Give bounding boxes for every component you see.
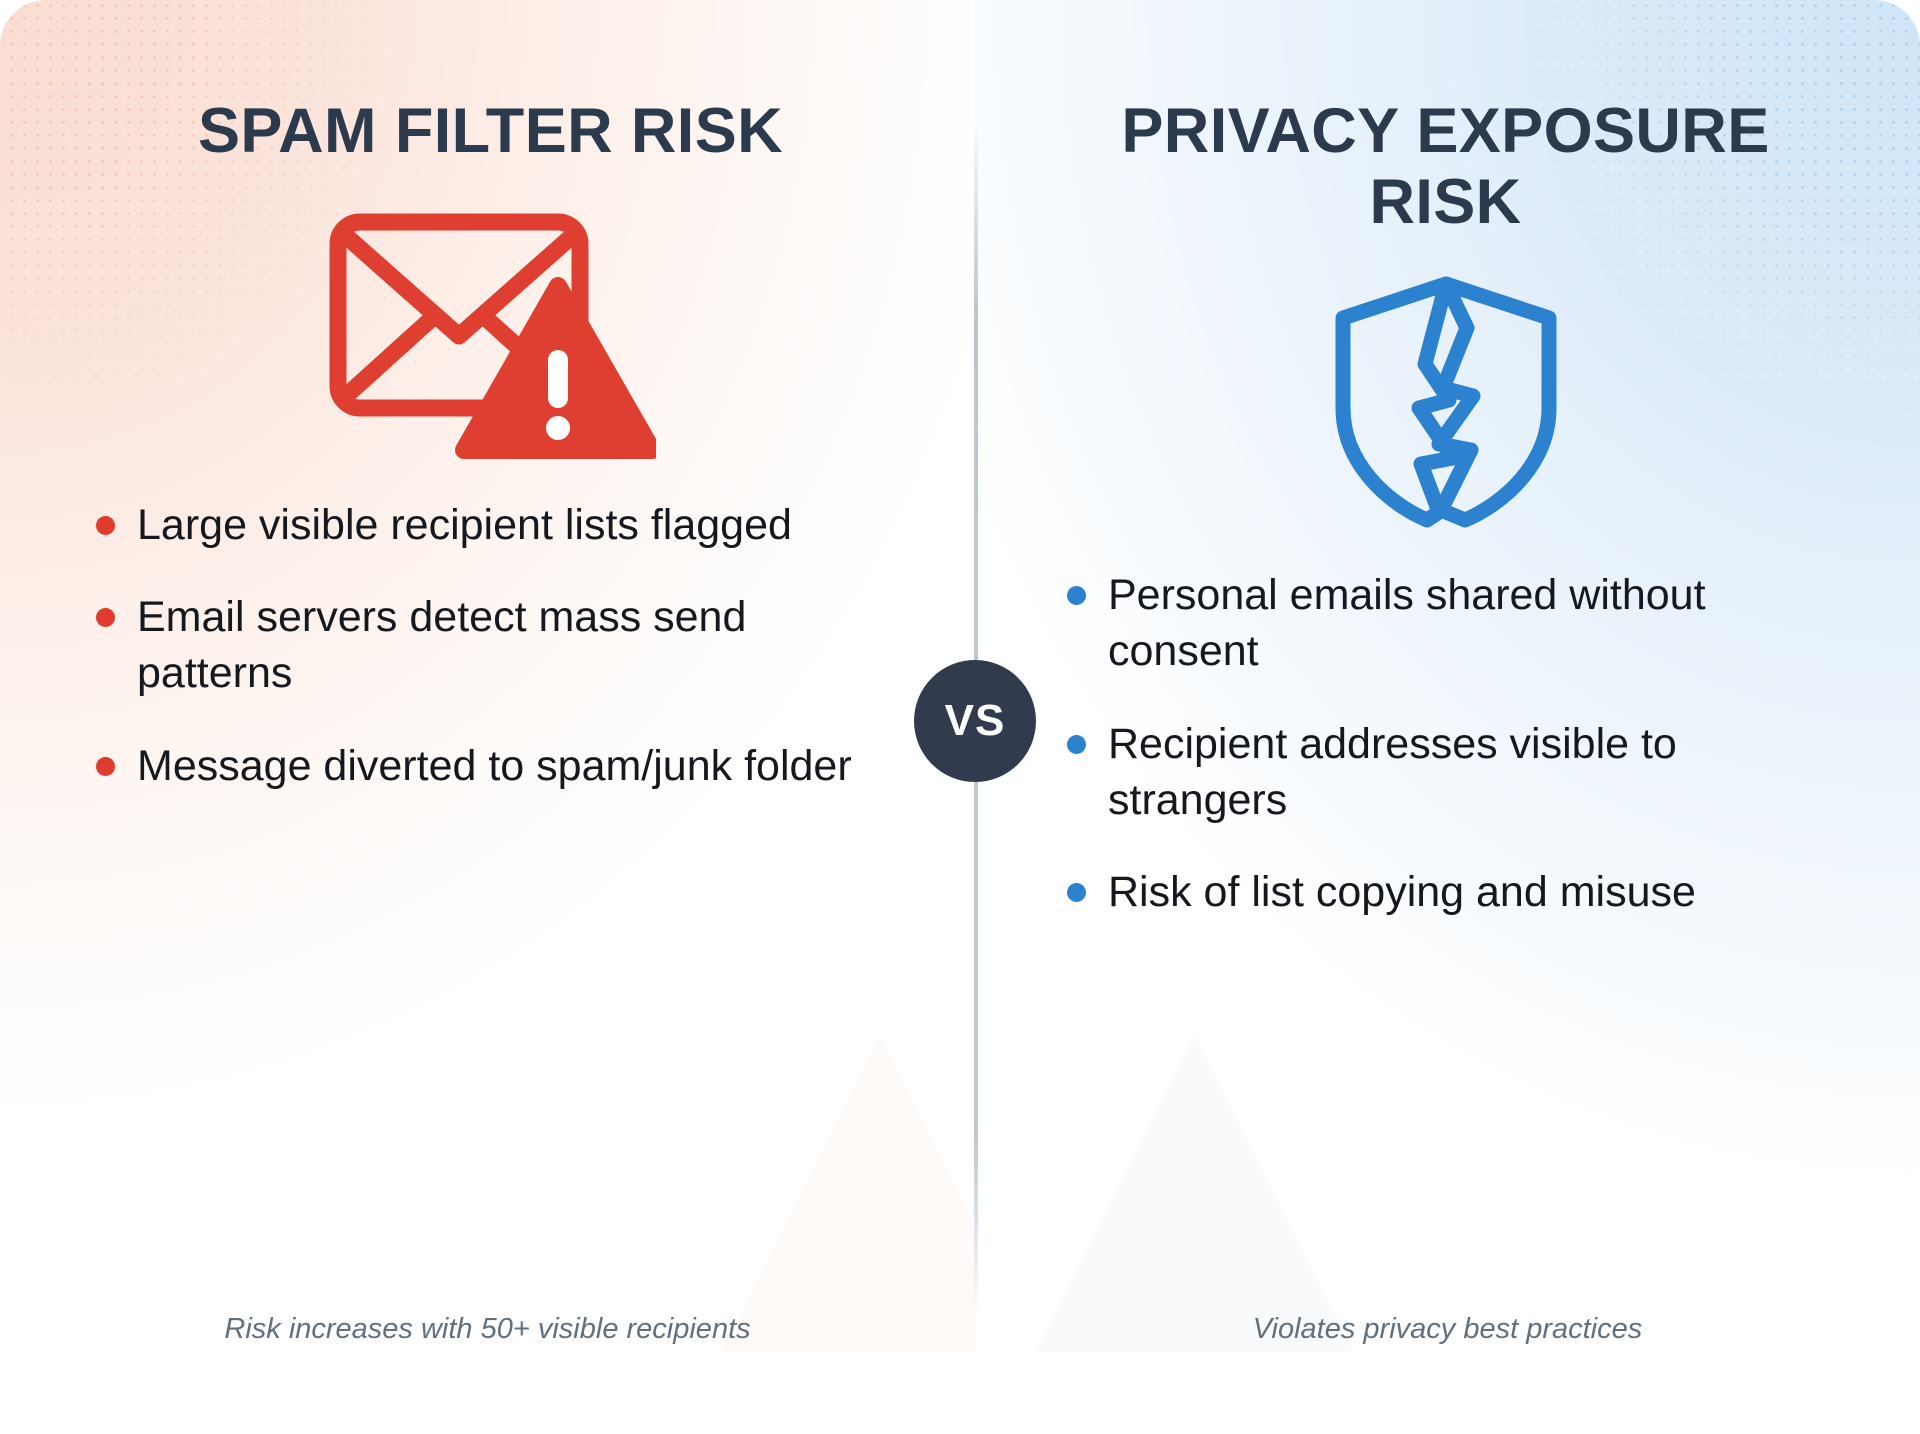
- right-bullet-list: Personal emails shared without consent R…: [1067, 567, 1824, 957]
- comparison-infographic: SPAM FILTER RISK Large visible recipi: [0, 0, 1920, 1434]
- cracked-shield-icon: [1067, 255, 1824, 545]
- vs-badge: VS: [914, 660, 1036, 782]
- vs-badge-label: VS: [945, 696, 1006, 746]
- right-heading: PRIVACY EXPOSURE RISK: [1067, 96, 1824, 237]
- bullet-dot-icon: [1067, 735, 1086, 754]
- envelope-warning-icon-svg: [326, 200, 656, 460]
- list-item: Risk of list copying and misuse: [1067, 864, 1824, 920]
- left-heading: SPAM FILTER RISK: [96, 96, 885, 167]
- bullet-dot-icon: [1067, 883, 1086, 902]
- cracked-shield-icon-svg: [1321, 268, 1571, 533]
- left-footnote: Risk increases with 50+ visible recipien…: [96, 1313, 885, 1346]
- list-item-label: Recipient addresses visible to strangers: [1108, 716, 1824, 829]
- bullet-dot-icon: [1067, 586, 1086, 605]
- list-item: Large visible recipient lists flagged: [96, 497, 885, 553]
- list-item: Recipient addresses visible to strangers: [1067, 716, 1824, 829]
- bullet-dot-icon: [96, 757, 115, 776]
- list-item: Personal emails shared without consent: [1067, 567, 1824, 680]
- list-item-label: Risk of list copying and misuse: [1108, 864, 1696, 920]
- list-item-label: Message diverted to spam/junk folder: [137, 738, 852, 794]
- right-footnote: Violates privacy best practices: [1067, 1313, 1824, 1346]
- list-item: Email servers detect mass send patterns: [96, 589, 885, 702]
- left-column: SPAM FILTER RISK Large visible recipi: [0, 0, 975, 1434]
- left-bullet-list: Large visible recipient lists flagged Em…: [96, 497, 885, 830]
- list-item-label: Personal emails shared without consent: [1108, 567, 1824, 680]
- bullet-dot-icon: [96, 516, 115, 535]
- bullet-dot-icon: [96, 608, 115, 627]
- list-item-label: Email servers detect mass send patterns: [137, 589, 885, 702]
- envelope-warning-icon: [96, 185, 885, 475]
- right-column: PRIVACY EXPOSURE RISK Personal emails sh…: [975, 0, 1920, 1434]
- list-item: Message diverted to spam/junk folder: [96, 738, 885, 794]
- list-item-label: Large visible recipient lists flagged: [137, 497, 792, 553]
